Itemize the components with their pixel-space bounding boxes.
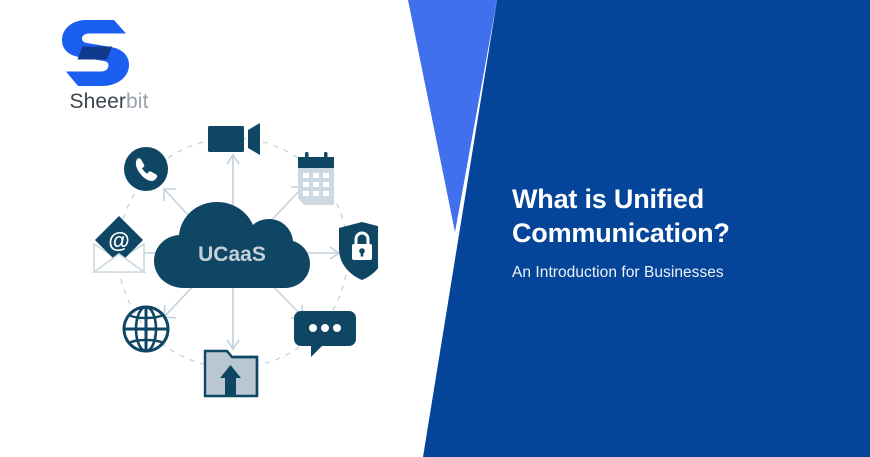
node-file-sharing [205,351,257,396]
phone-call-icon [124,147,168,191]
video-camera-lens-icon [248,123,260,155]
node-web-access [124,307,168,351]
page-subtitle: An Introduction for Businesses [512,263,842,283]
ucaas-diagram: UCaaS [88,108,378,398]
folder-upload-icon [205,351,257,396]
chat-bubble-icon [294,311,356,357]
svg-text:@: @ [108,228,129,253]
cloud-icon: UCaaS [154,202,310,288]
sheerbit-s-logo-icon [60,18,132,88]
node-security [339,222,378,280]
calendar-icon [298,152,334,205]
email-at-icon: @ [94,216,144,272]
video-camera-icon [208,126,244,152]
headline-line-2: Communication? [512,218,730,248]
node-video-conferencing [208,123,260,155]
hero-text-block: What is Unified Communication? An Introd… [512,182,842,283]
brand-logo: Sheerbit [44,18,174,118]
node-instant-messaging [294,311,356,357]
chat-dots-icon [309,324,341,332]
slide-canvas: Sheerbit [0,0,870,457]
page-title: What is Unified Communication? [512,182,842,251]
cloud-center-label: UCaaS [198,243,266,266]
node-email: @ [94,216,144,272]
headline-line-1: What is Unified [512,184,704,214]
node-calendar [298,152,334,205]
node-voice-calling [124,147,168,191]
